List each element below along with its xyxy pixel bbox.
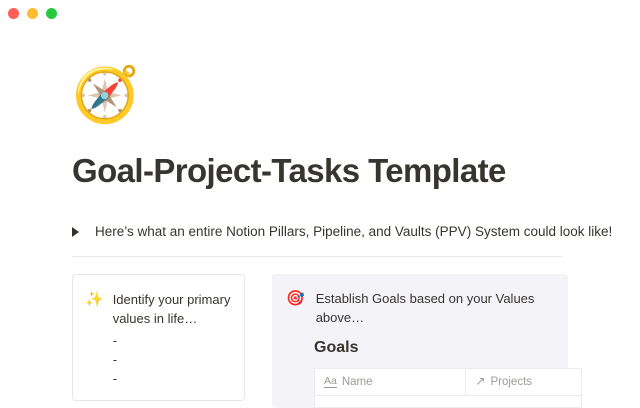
- goals-database-table: Aa Name ↗ Projects: [314, 368, 582, 408]
- window-title-bar: [0, 0, 640, 28]
- goals-callout-text: Establish Goals based on your Values abo…: [316, 289, 552, 327]
- relation-property-icon: ↗: [475, 375, 485, 387]
- direct-hit-emoji: 🎯: [286, 289, 305, 308]
- list-item[interactable]: -: [113, 331, 232, 350]
- list-item[interactable]: -: [113, 369, 232, 388]
- notion-page: 🧭 Goal-Project-Tasks Template Here’s wha…: [0, 28, 640, 400]
- values-callout-card[interactable]: ✨ Identify your primary values in life… …: [72, 274, 245, 401]
- two-column-layout: ✨ Identify your primary values in life… …: [72, 274, 568, 408]
- window-traffic-lights: [8, 8, 57, 19]
- maximize-window-button[interactable]: [46, 8, 57, 19]
- horizontal-divider: [72, 256, 562, 257]
- page-content-column: 🧭 Goal-Project-Tasks Template Here’s wha…: [72, 28, 568, 408]
- column-header-projects-label: Projects: [490, 376, 532, 388]
- goals-database-title: Goals: [314, 337, 568, 359]
- toggle-block[interactable]: Here’s what an entire Notion Pillars, Pi…: [72, 222, 568, 244]
- sparkles-emoji: ✨: [85, 290, 104, 309]
- compass-emoji[interactable]: 🧭: [72, 68, 568, 130]
- close-window-button[interactable]: [8, 8, 19, 19]
- chevron-right-icon[interactable]: [72, 222, 90, 242]
- table-row[interactable]: [315, 396, 582, 408]
- column-header-name[interactable]: Aa Name: [315, 369, 466, 396]
- values-bullet-list: - - -: [113, 331, 232, 388]
- goals-callout-card[interactable]: 🎯 Establish Goals based on your Values a…: [272, 274, 568, 408]
- goals-callout-header: 🎯 Establish Goals based on your Values a…: [272, 289, 568, 327]
- column-header-name-label: Name: [342, 376, 373, 388]
- column-header-projects[interactable]: ↗ Projects: [466, 369, 582, 396]
- toggle-block-label: Here’s what an entire Notion Pillars, Pi…: [90, 222, 612, 242]
- values-callout-body: Identify your primary values in life… - …: [113, 290, 232, 388]
- table-header-row: Aa Name ↗ Projects: [315, 369, 582, 396]
- title-property-icon: Aa: [324, 376, 337, 388]
- page-title: Goal-Project-Tasks Template: [72, 152, 568, 190]
- values-callout-text: Identify your primary values in life…: [113, 290, 232, 328]
- minimize-window-button[interactable]: [27, 8, 38, 19]
- list-item[interactable]: -: [113, 350, 232, 369]
